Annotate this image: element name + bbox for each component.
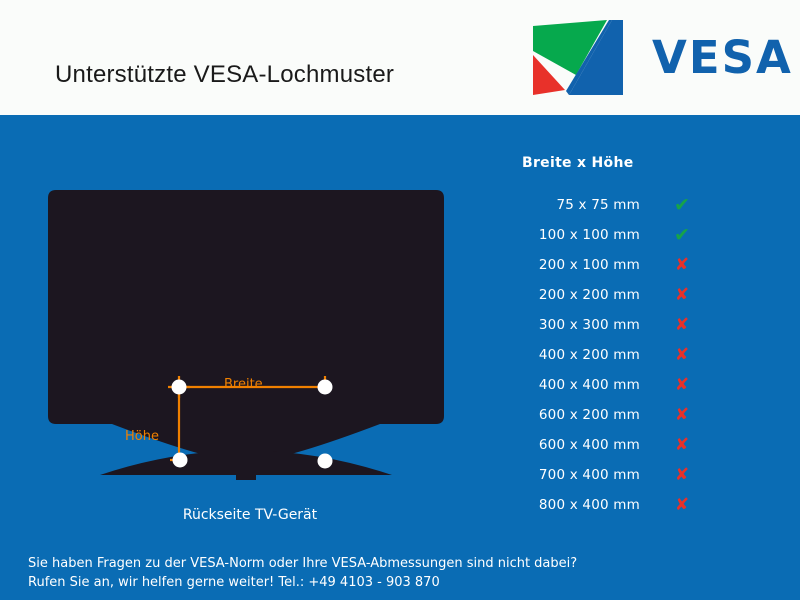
table-row: 800 x 400 mm✘ — [470, 490, 770, 520]
tv-stand-base — [100, 451, 392, 476]
height-label: Höhe — [125, 429, 159, 444]
unsupported-cross-icon: ✘ — [662, 315, 702, 335]
footer-line-2: Rufen Sie an, wir helfen gerne weiter! T… — [28, 573, 577, 592]
unsupported-cross-icon: ✘ — [662, 495, 702, 515]
tv-diagram-caption: Rückseite TV-Gerät — [40, 507, 460, 523]
width-label: Breite — [224, 377, 263, 392]
mount-hole-top-right — [318, 380, 333, 395]
pattern-size-label: 100 x 100 mm — [470, 227, 640, 243]
page-title: Unterstützte VESA-Lochmuster — [55, 61, 394, 89]
table-row: 400 x 400 mm✘ — [470, 370, 770, 400]
vesa-logo: VESA — [530, 17, 780, 97]
vesa-logo-mark — [530, 17, 627, 99]
pattern-size-label: 200 x 100 mm — [470, 257, 640, 273]
table-rows: 75 x 75 mm✔100 x 100 mm✔200 x 100 mm✘200… — [470, 190, 770, 520]
unsupported-cross-icon: ✘ — [662, 375, 702, 395]
pattern-size-label: 75 x 75 mm — [470, 197, 640, 213]
tv-panel — [48, 190, 444, 462]
pattern-size-label: 700 x 400 mm — [470, 467, 640, 483]
supported-check-icon: ✔ — [662, 194, 702, 216]
unsupported-cross-icon: ✘ — [662, 285, 702, 305]
table-row: 600 x 200 mm✘ — [470, 400, 770, 430]
main-body: Breite Höhe Rückseite TV-Gerät Breite x … — [0, 115, 800, 600]
table-row: 700 x 400 mm✘ — [470, 460, 770, 490]
mount-hole-bottom-left — [173, 453, 188, 468]
pattern-size-label: 400 x 400 mm — [470, 377, 640, 393]
tv-back-diagram — [40, 190, 460, 510]
pattern-size-label: 600 x 200 mm — [470, 407, 640, 423]
footer-contact-text: Sie haben Fragen zu der VESA-Norm oder I… — [28, 554, 577, 592]
vesa-pattern-table: Breite x Höhe 75 x 75 mm✔100 x 100 mm✔20… — [470, 155, 770, 520]
unsupported-cross-icon: ✘ — [662, 465, 702, 485]
table-row: 100 x 100 mm✔ — [470, 220, 770, 250]
footer-line-1: Sie haben Fragen zu der VESA-Norm oder I… — [28, 554, 577, 573]
table-header-breite-x-hoehe: Breite x Höhe — [470, 155, 770, 171]
mount-hole-top-left — [172, 380, 187, 395]
table-row: 200 x 100 mm✘ — [470, 250, 770, 280]
table-row: 300 x 300 mm✘ — [470, 310, 770, 340]
table-row: 200 x 200 mm✘ — [470, 280, 770, 310]
pattern-size-label: 400 x 200 mm — [470, 347, 640, 363]
table-row: 75 x 75 mm✔ — [470, 190, 770, 220]
pattern-size-label: 200 x 200 mm — [470, 287, 640, 303]
vesa-info-graphic: Unterstützte VESA-Lochmuster VESA — [0, 0, 800, 600]
table-row: 600 x 400 mm✘ — [470, 430, 770, 460]
vesa-wordmark: VESA — [652, 33, 793, 83]
mount-hole-bottom-right — [318, 454, 333, 469]
unsupported-cross-icon: ✘ — [662, 345, 702, 365]
pattern-size-label: 800 x 400 mm — [470, 497, 640, 513]
supported-check-icon: ✔ — [662, 224, 702, 246]
table-row: 400 x 200 mm✘ — [470, 340, 770, 370]
pattern-size-label: 300 x 300 mm — [470, 317, 640, 333]
pattern-size-label: 600 x 400 mm — [470, 437, 640, 453]
unsupported-cross-icon: ✘ — [662, 435, 702, 455]
header-bar: Unterstützte VESA-Lochmuster VESA — [0, 0, 800, 115]
unsupported-cross-icon: ✘ — [662, 255, 702, 275]
unsupported-cross-icon: ✘ — [662, 405, 702, 425]
